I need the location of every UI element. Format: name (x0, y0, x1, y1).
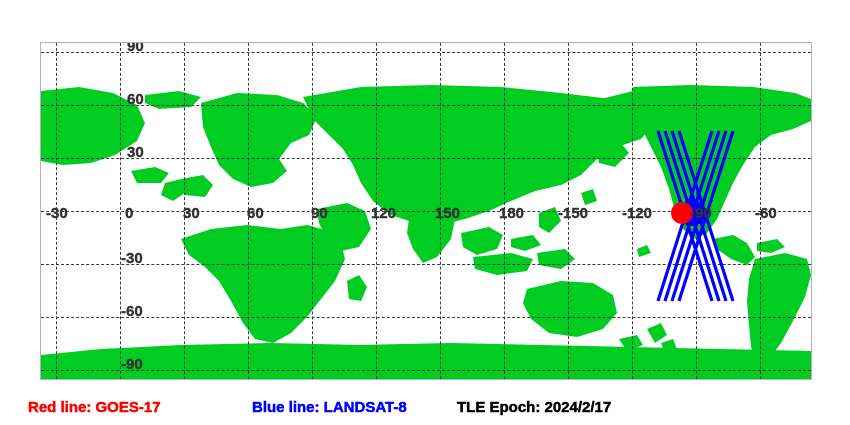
lon-label: 150 (435, 206, 460, 221)
lon-label: 60 (247, 206, 264, 221)
lon-label: -60 (755, 206, 777, 221)
legend-red-satellite: Red line: GOES-17 (28, 400, 161, 415)
legend-tle-epoch: TLE Epoch: 2024/2/17 (457, 400, 611, 415)
lat-label: 60 (127, 92, 144, 107)
lat-label: -30 (121, 251, 143, 266)
lon-label: -30 (46, 206, 68, 221)
lat-label: -60 (121, 304, 143, 319)
lon-label: -120 (622, 206, 652, 221)
lat-label: -90 (121, 357, 143, 372)
legend-bar: Red line: GOES-17 Blue line: LANDSAT-8 T… (0, 392, 850, 425)
lat-label: 90 (127, 42, 144, 54)
lat-label: 30 (127, 145, 144, 160)
lon-label: 180 (499, 206, 524, 221)
satellite-ground-track-map: -30 0 30 60 90 120 150 180 -150 -120 -90… (0, 0, 850, 425)
lon-label: 90 (311, 206, 328, 221)
lon-label: 120 (371, 206, 396, 221)
legend-blue-satellite: Blue line: LANDSAT-8 (252, 400, 407, 415)
lon-label: 30 (183, 206, 200, 221)
lon-label: 0 (125, 206, 133, 221)
map-frame: -30 0 30 60 90 120 150 180 -150 -120 -90… (40, 42, 812, 380)
lon-label: -90 (690, 206, 712, 221)
lon-label: -150 (558, 206, 588, 221)
